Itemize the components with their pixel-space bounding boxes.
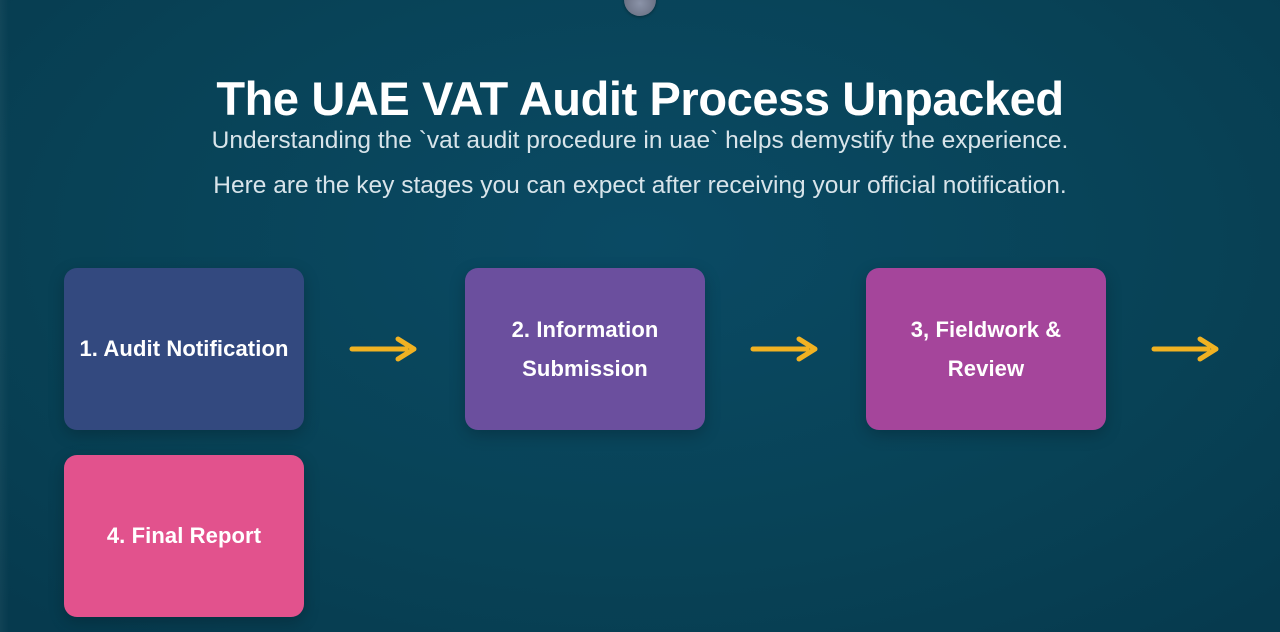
- arrow-right-icon: [304, 329, 465, 369]
- step-card-label: 1. Audit Notification: [79, 329, 288, 368]
- flow-row: 4. Final Report: [64, 455, 1280, 617]
- process-flow: 1. Audit Notification 2. Information Sub…: [64, 268, 1280, 628]
- step-card-final-report[interactable]: 4. Final Report: [64, 455, 304, 617]
- subtitle-line-2: Here are the key stages you can expect a…: [0, 163, 1280, 208]
- arrow-right-icon: [1106, 329, 1267, 369]
- step-card-information-submission[interactable]: 2. Information Submission: [465, 268, 705, 430]
- step-card-label: 4. Final Report: [107, 516, 261, 555]
- circle-badge-icon: [624, 0, 656, 16]
- arrow-right-icon: [705, 329, 866, 369]
- page-subtitle: Understanding the `vat audit procedure i…: [0, 118, 1280, 208]
- flow-row: 1. Audit Notification 2. Information Sub…: [64, 268, 1280, 430]
- step-card-label: 3, Fieldwork & Review: [880, 310, 1092, 388]
- step-card-audit-notification[interactable]: 1. Audit Notification: [64, 268, 304, 430]
- step-card-label: 2. Information Submission: [479, 310, 691, 388]
- subtitle-line-1: Understanding the `vat audit procedure i…: [0, 118, 1280, 163]
- step-card-fieldwork-review[interactable]: 3, Fieldwork & Review: [866, 268, 1106, 430]
- slide-canvas: The UAE VAT Audit Process Unpacked Under…: [0, 0, 1280, 632]
